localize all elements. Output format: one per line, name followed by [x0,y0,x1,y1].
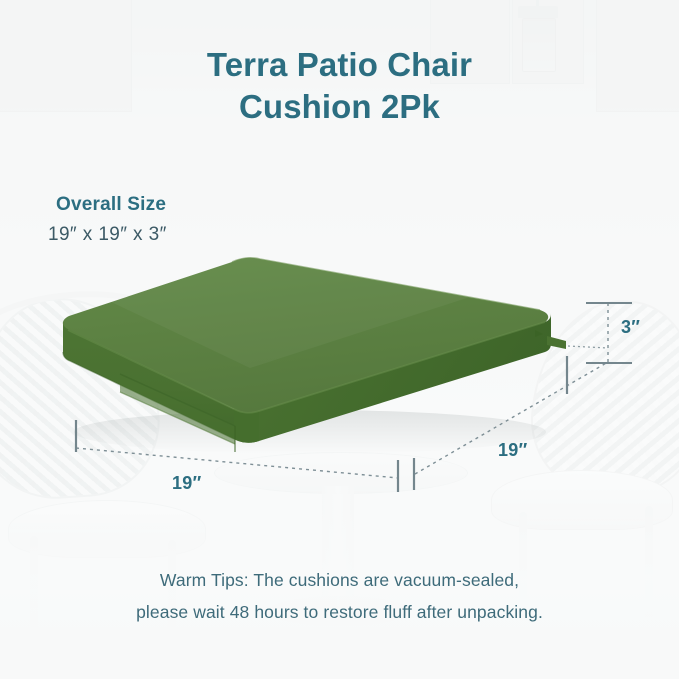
overall-size-value: 19″ x 19″ x 3″ [48,224,167,246]
title-line-2: Cushion 2Pk [0,86,679,128]
dimension-label-width: 19″ [172,473,202,494]
product-infographic: Terra Patio Chair Cushion 2Pk Overall Si… [0,0,679,679]
title-line-1: Terra Patio Chair [207,46,472,83]
dimension-label-depth: 19″ [498,440,528,461]
warm-tips-line-1: Warm Tips: The cushions are vacuum-seale… [160,570,519,590]
page-title: Terra Patio Chair Cushion 2Pk [0,44,679,128]
warm-tips-line-2: please wait 48 hours to restore fluff af… [0,596,679,628]
warm-tips: Warm Tips: The cushions are vacuum-seale… [0,564,679,629]
cushion-front-corner [234,409,259,443]
overall-size-heading: Overall Size [56,194,166,216]
dimension-label-height: 3″ [621,317,640,338]
